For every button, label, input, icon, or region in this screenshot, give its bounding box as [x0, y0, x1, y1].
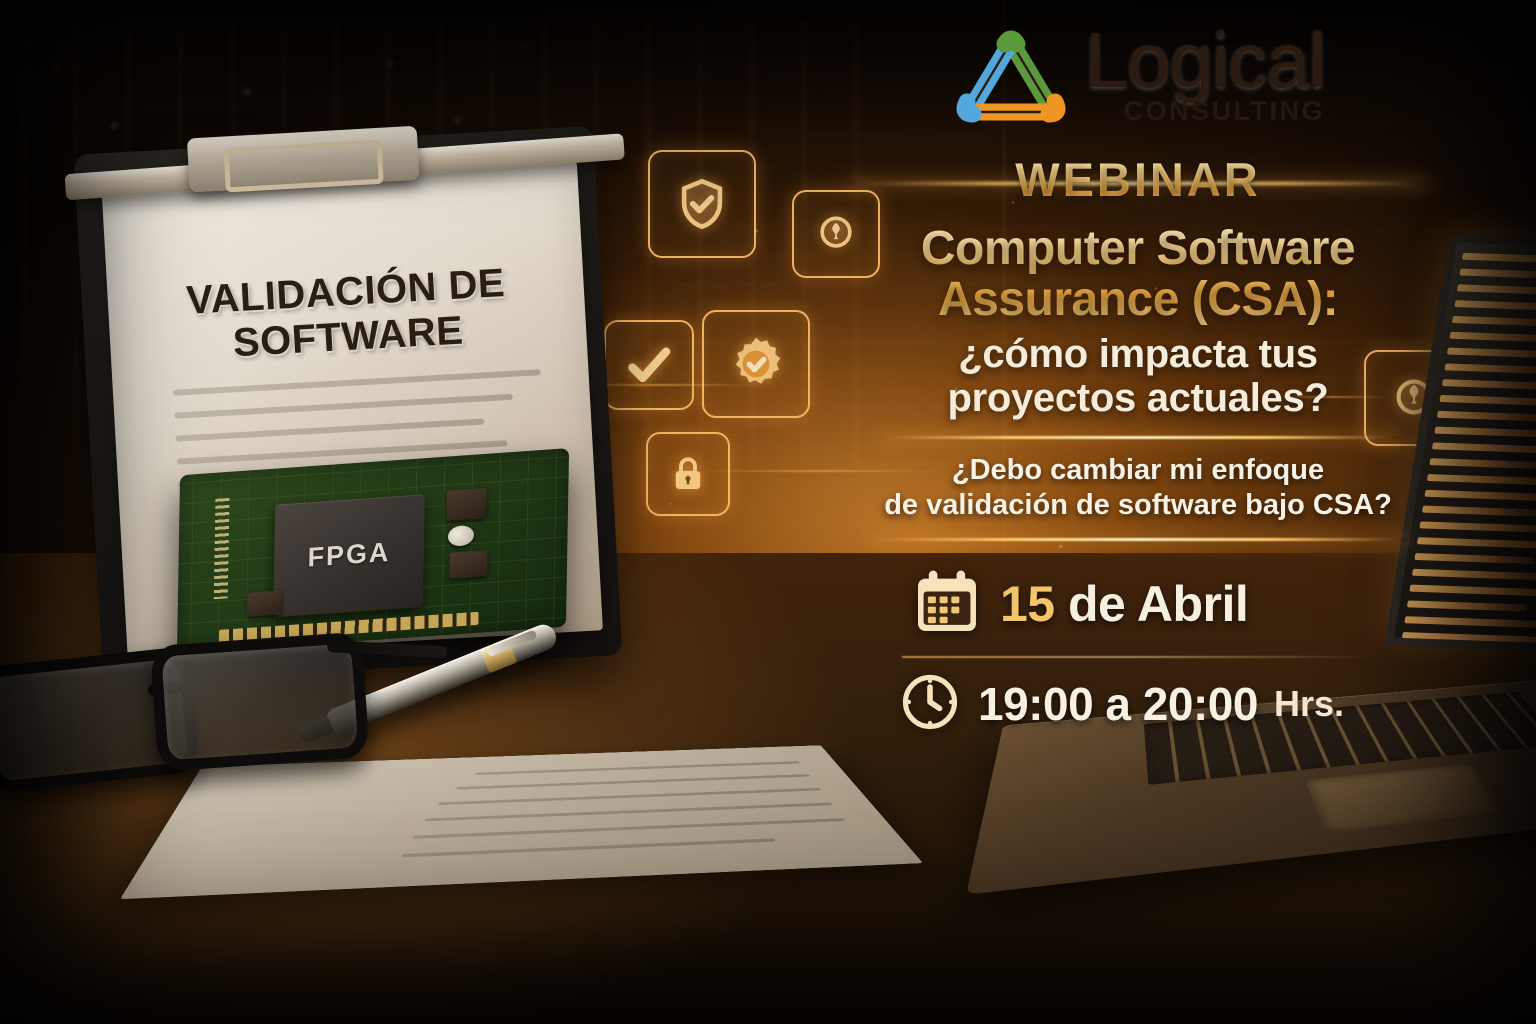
content-panel: Logical CONSULTING WEBINAR Computer Soft… — [858, 12, 1418, 739]
brand-wordmark: Logical CONSULTING — [1085, 29, 1325, 128]
padlock-icon — [646, 432, 730, 516]
brand-logo: Logical CONSULTING — [858, 26, 1418, 130]
event-question: ¿Debo cambiar mi enfoque de validación d… — [858, 453, 1418, 524]
event-date-day: 15 — [1000, 576, 1055, 632]
date-divider — [902, 656, 1372, 658]
event-title-line1: Computer Software — [858, 224, 1418, 275]
pcb-component — [446, 488, 486, 521]
pcb-pins — [214, 498, 230, 599]
kicker-label: WEBINAR — [993, 152, 1283, 207]
brand-name: Logical — [1085, 29, 1325, 93]
clock-icon — [898, 670, 962, 739]
kicker-row: WEBINAR — [858, 152, 1418, 214]
tri-triangle-loop-logo — [951, 26, 1071, 130]
pcb-component — [449, 550, 487, 579]
pcb-component — [247, 590, 281, 616]
event-date: 15 de Abril — [1000, 575, 1248, 633]
circuit-board-icon: FPGA — [177, 448, 569, 654]
event-subtitle-line2: proyectos actuales? — [858, 376, 1418, 420]
shield-check-icon — [648, 150, 756, 258]
section-divider — [878, 436, 1398, 439]
event-title: Computer Software Assurance (CSA): — [858, 224, 1418, 326]
laptop-trackpad — [1305, 764, 1507, 835]
event-question-line1: ¿Debo cambiar mi enfoque — [858, 453, 1418, 488]
fpga-chip: FPGA — [273, 494, 425, 617]
gear-check-icon — [702, 310, 810, 418]
event-time-range: 19:00 a 20:00 — [978, 677, 1258, 731]
event-subtitle-line1: ¿cómo impacta tus — [858, 332, 1418, 376]
event-time-row: 19:00 a 20:00 Hrs. — [898, 670, 1418, 739]
event-subtitle: ¿cómo impacta tus proyectos actuales? — [858, 332, 1418, 420]
calendar-icon — [910, 565, 984, 644]
checkmark-icon — [604, 320, 694, 410]
event-question-line2: de validación de software bajo CSA? — [858, 488, 1418, 523]
event-title-line2: Assurance (CSA): — [858, 275, 1418, 326]
webinar-poster: VALIDACIÓN DE SOFTWARE FPGA — [0, 0, 1536, 1024]
fpga-chip-label: FPGA — [307, 537, 390, 574]
section-divider — [868, 538, 1408, 541]
event-date-month: de Abril — [1055, 576, 1249, 632]
event-time-unit: Hrs. — [1274, 683, 1344, 725]
event-date-row: 15 de Abril — [910, 565, 1418, 644]
